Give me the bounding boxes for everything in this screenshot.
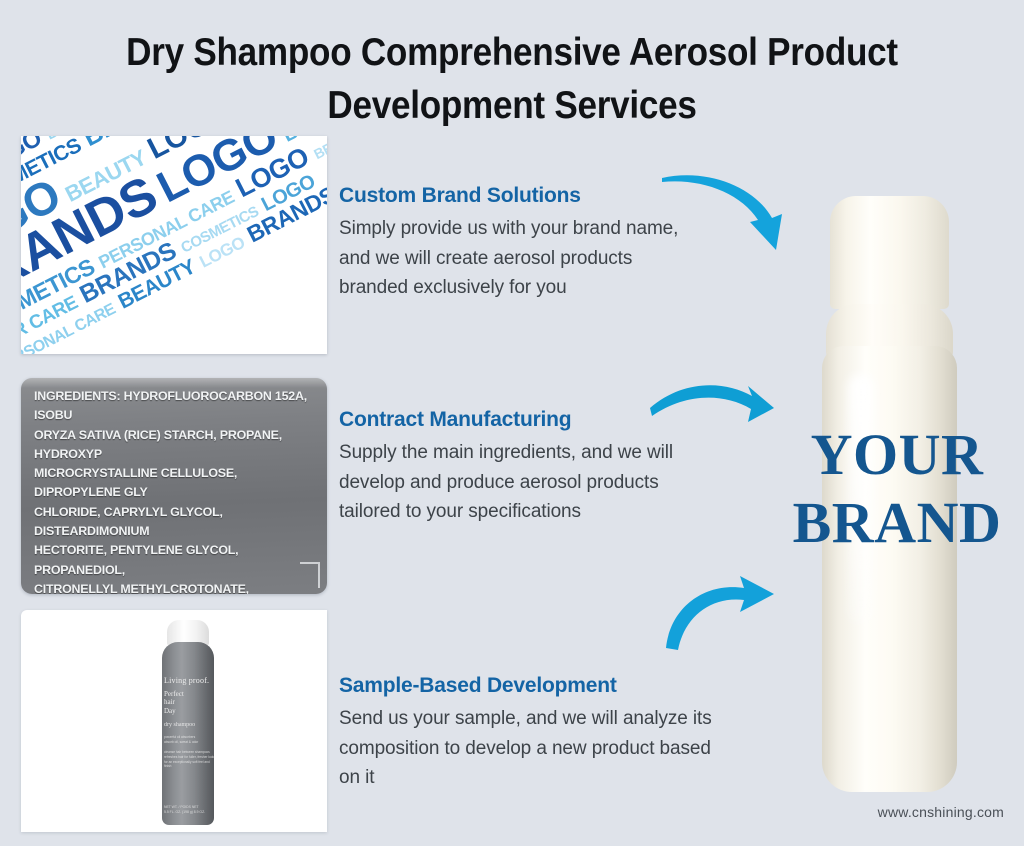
service-heading-1: Custom Brand Solutions [339,184,684,208]
can-product-line: Perfect hair Day [164,690,216,715]
website-url: www.cnshining.com [0,804,1004,820]
curved-arrow-icon-1 [660,168,790,258]
wordcloud-content: HAIR CARELOGOBEAUTYLOGOBRANDSLOGOCOSMETI… [21,136,327,354]
title-line-1: Dry Shampoo Comprehensive Aerosol Produc… [126,31,898,74]
can-brand-name: Living proof. [164,676,216,685]
service-body-3: Send us your sample, and we will analyze… [339,704,714,793]
wordcloud-image: HAIR CARELOGOBEAUTYLOGOBRANDSLOGOCOSMETI… [21,136,327,354]
your-brand-line-1: YOUR [811,422,984,487]
service-body-1: Simply provide us with your brand name, … [339,214,684,303]
bottle-body [822,346,957,792]
title-line-2: Development Services [51,79,973,132]
aerosol-can-graphic: Living proof. Perfect hair Day dry shamp… [154,620,222,825]
page-title: Dry Shampoo Comprehensive Aerosol Produc… [51,26,973,132]
can-description-secondary: cleanse hair between shampoos refreshes … [164,750,216,768]
ingredients-text: INGREDIENTS: HYDROFLUOROCARBON 152A, ISO… [34,387,319,594]
your-brand-label: YOUR BRAND [770,425,1024,553]
service-heading-3: Sample-Based Development [339,674,714,698]
wordcloud-word: BEAUTY [312,136,327,161]
infographic-canvas: Dry Shampoo Comprehensive Aerosol Produc… [0,0,1024,846]
service-block-custom-brand: Custom Brand Solutions Simply provide us… [339,184,684,303]
service-body-2: Supply the main ingredients, and we will… [339,438,699,527]
sample-product-image: Living proof. Perfect hair Day dry shamp… [21,610,327,832]
label-corner-mark [300,562,320,588]
can-label: Living proof. Perfect hair Day dry shamp… [164,676,216,769]
service-block-sample-based: Sample-Based Development Send us your sa… [339,674,714,793]
service-heading-2: Contract Manufacturing [339,408,699,432]
curved-arrow-icon-3 [660,572,790,650]
can-product-type: dry shampoo [164,722,216,728]
your-brand-line-2: BRAND [770,493,1024,553]
service-block-contract-manufacturing: Contract Manufacturing Supply the main i… [339,408,699,527]
can-description: powerful oil absorbers absorb oil, sweat… [164,735,216,744]
bottle-cap [830,196,949,309]
ingredients-label-image: INGREDIENTS: HYDROFLUOROCARBON 152A, ISO… [21,378,327,594]
curved-arrow-icon-2 [648,378,778,444]
